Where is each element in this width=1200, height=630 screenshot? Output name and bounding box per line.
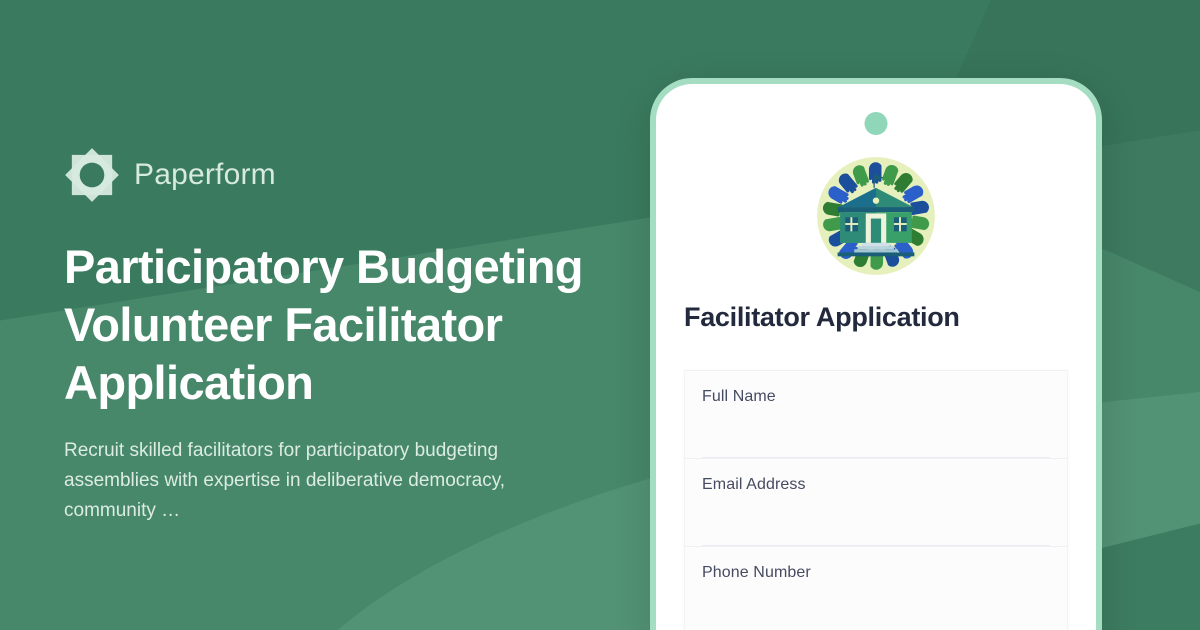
field-label: Phone Number: [702, 564, 1050, 582]
page-description: Recruit skilled facilitators for partici…: [64, 436, 584, 526]
form-field-list: Full Name Email Address Phone Number: [684, 370, 1068, 630]
civic-building-with-hands-circle-icon: [812, 152, 940, 280]
form-field-full-name[interactable]: Full Name: [685, 371, 1067, 459]
form-field-phone-number[interactable]: Phone Number: [685, 547, 1067, 630]
page-title: Participatory Budgeting Volunteer Facili…: [64, 238, 609, 412]
brand-name: Paperform: [134, 158, 276, 192]
hero-content: Paperform Participatory Budgeting Volunt…: [64, 146, 624, 526]
form-field-email-address[interactable]: Email Address: [685, 459, 1067, 547]
brand-lockup: Paperform: [64, 146, 624, 204]
field-label: Email Address: [702, 476, 1050, 494]
field-label: Full Name: [702, 388, 1050, 406]
full-name-input[interactable]: [702, 418, 1050, 458]
camera-dot-icon: [865, 112, 888, 135]
email-address-input[interactable]: [702, 506, 1050, 546]
phone-mockup: Facilitator Application Full Name Email …: [650, 78, 1102, 630]
preview-canvas: Paperform Participatory Budgeting Volunt…: [0, 0, 1200, 630]
paperform-star-logo-icon: [64, 147, 120, 203]
phone-number-input[interactable]: [702, 594, 1050, 630]
form-title: Facilitator Application: [684, 302, 1072, 333]
